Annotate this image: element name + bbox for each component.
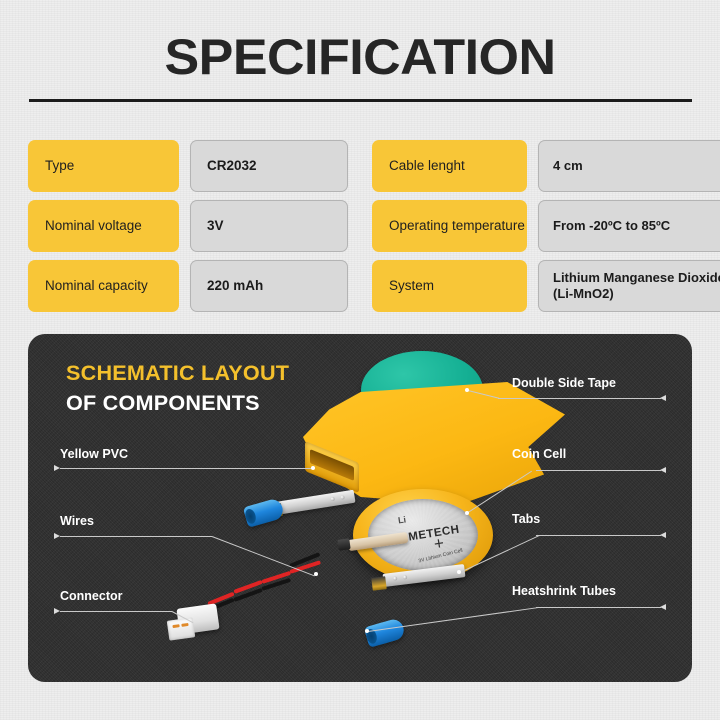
tab-rivet — [393, 576, 397, 580]
spec-column-right: Cable lenght 4 cm Operating temperature … — [372, 140, 692, 320]
spec-row: Operating temperature From -20ºC to 85ºC — [372, 200, 692, 252]
blue-cap-part — [364, 617, 406, 648]
callout-anchor-dot — [465, 511, 469, 515]
spec-value: 4 cm — [538, 140, 720, 192]
spec-key: Cable lenght — [372, 140, 527, 192]
page-title: SPECIFICATION — [0, 28, 720, 86]
callout-label-yellow-pvc: Yellow PVC — [60, 447, 128, 461]
callout-leader — [498, 398, 661, 399]
tab-rivet — [340, 495, 345, 500]
tab-rivet — [403, 575, 407, 579]
heatshrink-tube-end — [337, 538, 350, 551]
callout-leader — [536, 607, 661, 608]
blue-cap-part — [243, 497, 285, 528]
spec-row: Nominal voltage 3V — [28, 200, 348, 252]
callout-leader — [60, 611, 172, 612]
spec-value: 3V — [190, 200, 348, 252]
callout-anchor-dot — [314, 572, 318, 576]
blue-cap-opening — [244, 508, 258, 525]
spec-value: 220 mAh — [190, 260, 348, 312]
callout-leader — [536, 470, 661, 471]
spec-value: Lithium Manganese Dioxide (Li-MnO2) — [538, 260, 720, 312]
callout-label-wires: Wires — [60, 514, 94, 528]
callout-arrow-icon — [660, 604, 666, 610]
callout-anchor-dot — [457, 570, 461, 574]
spec-key: Nominal voltage — [28, 200, 179, 252]
callout-leader — [536, 535, 661, 536]
callout-leader — [60, 468, 313, 469]
yellow-pvc-part — [303, 382, 565, 507]
connector-pin — [181, 623, 188, 627]
callout-arrow-icon — [660, 467, 666, 473]
callout-arrow-icon — [54, 465, 60, 471]
callout-label-double-side-tape: Double Side Tape — [512, 376, 616, 390]
tab-tip — [371, 576, 386, 591]
spec-row: Nominal capacity 220 mAh — [28, 260, 348, 312]
spec-key: System — [372, 260, 527, 312]
spec-key: Type — [28, 140, 179, 192]
callout-label-tabs: Tabs — [512, 512, 540, 526]
schematic-panel: SCHEMATIC LAYOUT OF COMPONENTS Li ROMETE… — [28, 334, 692, 682]
spec-key: Operating temperature — [372, 200, 527, 252]
callout-anchor-dot — [311, 466, 315, 470]
callout-arrow-icon — [660, 395, 666, 401]
spec-column-left: Type CR2032 Nominal voltage 3V Nominal c… — [28, 140, 348, 320]
spec-key: Nominal capacity — [28, 260, 179, 312]
callout-arrow-icon — [660, 532, 666, 538]
title-divider — [29, 99, 692, 102]
callout-arrow-icon — [54, 533, 60, 539]
callout-label-connector: Connector — [60, 589, 123, 603]
callout-label-coin-cell: Coin Cell — [512, 447, 566, 461]
spec-row: Type CR2032 — [28, 140, 348, 192]
specification-page: SPECIFICATION Type CR2032 Nominal voltag… — [0, 0, 720, 720]
tab-rivet — [330, 497, 335, 502]
spec-row: Cable lenght 4 cm — [372, 140, 692, 192]
tab-part — [272, 490, 355, 516]
coin-cell-top-mark: Li — [397, 514, 406, 525]
spec-value: From -20ºC to 85ºC — [538, 200, 720, 252]
callout-label-heatshrink-tubes: Heatshrink Tubes — [512, 584, 616, 598]
callout-arrow-icon — [54, 608, 60, 614]
callout-anchor-dot — [465, 388, 469, 392]
callout-leader — [60, 536, 212, 537]
connector-pin — [172, 624, 179, 628]
spec-row: System Lithium Manganese Dioxide (Li-MnO… — [372, 260, 692, 312]
callout-anchor-dot — [365, 629, 369, 633]
spec-value: CR2032 — [190, 140, 348, 192]
